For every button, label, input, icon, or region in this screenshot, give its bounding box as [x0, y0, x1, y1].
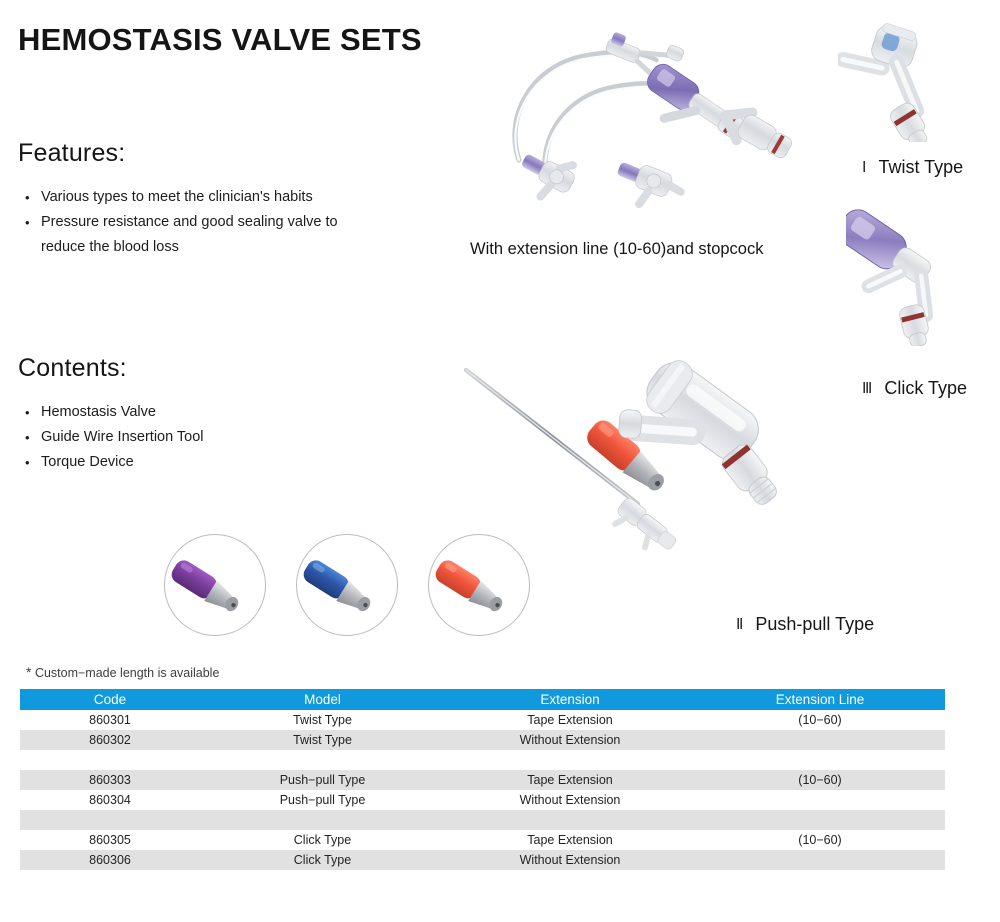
list-item: Pressure resistance and good sealing val…	[24, 210, 338, 235]
cell-extension	[445, 810, 695, 830]
cell-model	[200, 750, 445, 770]
cell-code	[20, 750, 200, 770]
footnote-custom-length: * Custom−made length is available	[26, 664, 219, 680]
torque-device-purple-inset	[164, 534, 266, 636]
cell-model: Click Type	[200, 830, 445, 850]
specification-table: Code Model Extension Extension Line 8603…	[20, 689, 945, 870]
cell-extension-line	[695, 850, 945, 870]
roman-numeral-ii: Ⅱ	[736, 615, 744, 633]
column-header-code: Code	[20, 689, 200, 710]
catalog-page: HEMOSTASIS VALVE SETS Features: Various …	[0, 0, 1000, 922]
cell-extension-line: (10−60)	[695, 770, 945, 790]
cell-code: 860304	[20, 790, 200, 810]
cell-model	[200, 810, 445, 830]
contents-heading: Contents:	[18, 354, 127, 383]
table-row: 860306Click TypeWithout Extension	[20, 850, 945, 870]
features-heading: Features:	[18, 139, 125, 168]
cell-extension	[445, 750, 695, 770]
table-row: 860302Twist TypeWithout Extension	[20, 730, 945, 750]
table-row: 860304Push−pull TypeWithout Extension	[20, 790, 945, 810]
cell-code: 860302	[20, 730, 200, 750]
table-body: 860301Twist TypeTape Extension(10−60)860…	[20, 710, 945, 870]
cell-extension-line	[695, 790, 945, 810]
cell-extension: Tape Extension	[445, 830, 695, 850]
column-header-extension: Extension	[445, 689, 695, 710]
table-header-row: Code Model Extension Extension Line	[20, 689, 945, 710]
cell-extension-line	[695, 730, 945, 750]
cell-model: Click Type	[200, 850, 445, 870]
contents-list: Hemostasis Valve Guide Wire Insertion To…	[24, 400, 204, 475]
table-spacer-row	[20, 810, 945, 830]
column-header-model: Model	[200, 689, 445, 710]
cell-extension: Without Extension	[445, 850, 695, 870]
type-label-click: ⅢClick Type	[862, 378, 967, 399]
features-list: Various types to meet the clinician's ha…	[24, 185, 338, 260]
cell-model: Push−pull Type	[200, 770, 445, 790]
table-header: Code Model Extension Extension Line	[20, 689, 945, 710]
cell-extension-line: (10−60)	[695, 710, 945, 730]
product-photo-click-type	[846, 196, 998, 346]
cell-code: 860306	[20, 850, 200, 870]
cell-model: Twist Type	[200, 730, 445, 750]
type-label-push-pull: ⅡPush-pull Type	[736, 614, 874, 635]
type-label-text: Twist Type	[878, 157, 963, 177]
cell-code: 860301	[20, 710, 200, 730]
table-spacer-row	[20, 750, 945, 770]
cell-extension-line: (10−60)	[695, 830, 945, 850]
cell-extension: Tape Extension	[445, 770, 695, 790]
list-item: Guide Wire Insertion Tool	[24, 425, 204, 450]
cell-code: 860303	[20, 770, 200, 790]
cell-extension: Without Extension	[445, 790, 695, 810]
list-item: Hemostasis Valve	[24, 400, 204, 425]
table-row: 860305Click TypeTape Extension(10−60)	[20, 830, 945, 850]
product-photo-twist-type	[838, 6, 998, 142]
torque-device-red-inset	[428, 534, 530, 636]
list-item-continuation: reduce the blood loss	[24, 235, 338, 260]
type-label-text: Push-pull Type	[755, 614, 874, 634]
asterisk-icon: *	[26, 664, 31, 680]
roman-numeral-i: Ⅰ	[862, 158, 867, 176]
cell-model: Twist Type	[200, 710, 445, 730]
cell-extension: Tape Extension	[445, 710, 695, 730]
table-row: 860303Push−pull TypeTape Extension(10−60…	[20, 770, 945, 790]
cell-extension-line	[695, 810, 945, 830]
list-item: Torque Device	[24, 450, 204, 475]
page-title: HEMOSTASIS VALVE SETS	[18, 22, 422, 58]
cell-extension: Without Extension	[445, 730, 695, 750]
caption-extension-set: With extension line (10-60)and stopcock	[470, 240, 764, 259]
table-row: 860301Twist TypeTape Extension(10−60)	[20, 710, 945, 730]
cell-model: Push−pull Type	[200, 790, 445, 810]
cell-code	[20, 810, 200, 830]
product-photo-extension-set	[474, 8, 796, 226]
column-header-extension-line: Extension Line	[695, 689, 945, 710]
list-item: Various types to meet the clinician's ha…	[24, 185, 338, 210]
type-label-twist: ⅠTwist Type	[862, 157, 963, 178]
type-label-text: Click Type	[884, 378, 967, 398]
cell-extension-line	[695, 750, 945, 770]
footnote-text: Custom−made length is available	[35, 666, 219, 680]
cell-code: 860305	[20, 830, 200, 850]
torque-device-blue-inset	[296, 534, 398, 636]
